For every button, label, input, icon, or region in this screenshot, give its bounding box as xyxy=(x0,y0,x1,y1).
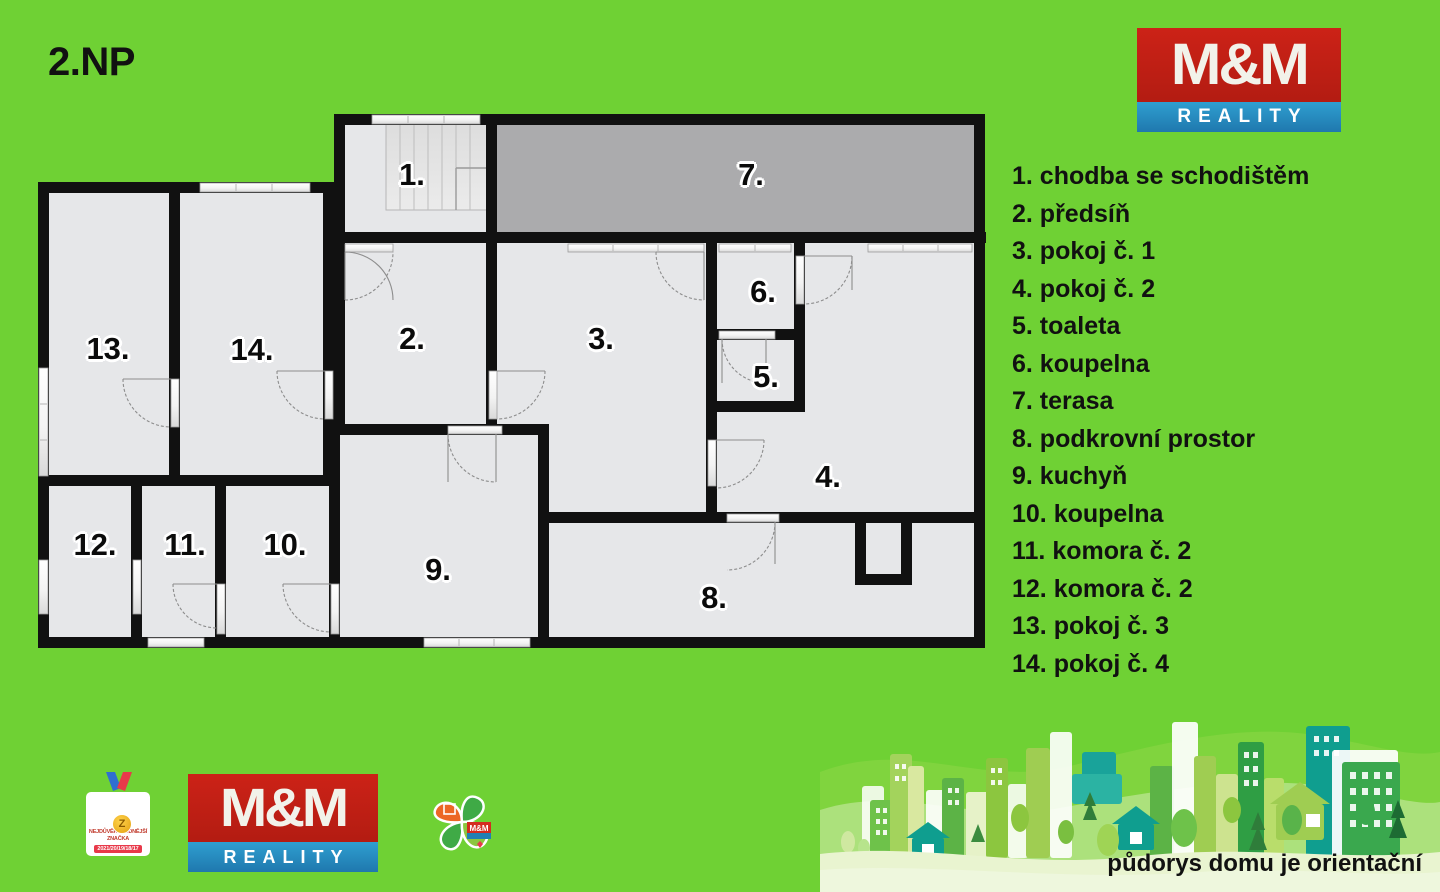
room-area-12 xyxy=(38,486,142,648)
legend-item-2: 2. předsíň xyxy=(1012,196,1432,234)
room-area-3 xyxy=(497,243,717,523)
brand-logo-mm-block: M&M xyxy=(1137,28,1341,102)
room-fills xyxy=(38,114,985,648)
legend-item-1: 1. chodba se schodištěm xyxy=(1012,158,1432,196)
svg-text:M&M: M&M xyxy=(469,824,488,833)
room-9-label: 9. xyxy=(425,552,451,588)
trust-badge-line2: ZNAČKA xyxy=(107,836,129,843)
disclaimer-text: půdorys domu je orientační xyxy=(1107,850,1422,878)
room-5-label: 5. xyxy=(753,359,779,395)
brand-logo-header: M&M REALITY xyxy=(1137,28,1341,136)
room-3-label: 3. xyxy=(588,321,614,357)
room-7-label: 7. xyxy=(738,157,764,193)
legend-item-7: 7. terasa xyxy=(1012,383,1432,421)
room-6-label: 6. xyxy=(750,274,776,310)
legend-item-13: 13. pokoj č. 3 xyxy=(1012,608,1432,646)
legend-item-14: 14. pokoj č. 4 xyxy=(1012,646,1432,684)
brand-logo-footer: M&M REALITY xyxy=(188,774,378,874)
medal-icon: Z xyxy=(112,814,132,834)
room-1-label: 1. xyxy=(399,157,425,193)
legend-item-3: 3. pokoj č. 1 xyxy=(1012,233,1432,271)
room-4-label: 4. xyxy=(815,459,841,495)
legend-item-10: 10. koupelna xyxy=(1012,496,1432,534)
room-13-label: 13. xyxy=(86,331,129,367)
brand-logo-footer-mm-text: M&M xyxy=(220,781,346,835)
legend-item-8: 8. podkrovní prostor xyxy=(1012,421,1432,459)
brand-logo-footer-mm-block: M&M xyxy=(188,774,378,842)
page-title: 2.NP xyxy=(48,40,135,85)
windows xyxy=(39,115,972,647)
door-arcs xyxy=(123,252,852,632)
legend-item-4: 4. pokoj č. 2 xyxy=(1012,271,1432,309)
trust-badge-years: 2021/20/19/18/17 xyxy=(94,845,141,853)
brand-logo-reality-bar: REALITY xyxy=(1137,102,1341,132)
brand-logo-footer-reality-text: REALITY xyxy=(216,847,349,868)
brand-logo-footer-reality-bar: REALITY xyxy=(188,842,378,872)
walls xyxy=(38,114,986,648)
brand-logo-mm-text: M&M xyxy=(1171,36,1307,94)
room-12-label: 12. xyxy=(73,527,116,563)
room-14-label: 14. xyxy=(230,332,273,368)
legend-item-11: 11. komora č. 2 xyxy=(1012,533,1432,571)
legend-item-12: 12. komora č. 2 xyxy=(1012,571,1432,609)
room-11-label: 11. xyxy=(164,527,205,563)
legend-item-9: 9. kuchyň xyxy=(1012,458,1432,496)
room-area-9 xyxy=(340,435,549,648)
trust-badge-card: Z NEJDŮVĚRYHODNĚJŠÍ ZNAČKA 2021/20/19/18… xyxy=(86,792,150,856)
brand-logo-reality-text: REALITY xyxy=(1170,106,1307,128)
room-area-10 xyxy=(226,486,340,648)
trust-award-badge: Z NEJDŮVĚRYHODNĚJŠÍ ZNAČKA 2021/20/19/18… xyxy=(82,772,154,860)
room-8-label: 8. xyxy=(701,580,727,616)
room-10-label: 10. xyxy=(263,527,306,563)
room-2-label: 2. xyxy=(399,321,425,357)
legend-list: 1. chodba se schodištěm2. předsíň3. poko… xyxy=(1012,158,1432,683)
clover-award-badge: M&M xyxy=(420,784,504,860)
legend-item-6: 6. koupelna xyxy=(1012,346,1432,384)
legend-item-5: 5. toaleta xyxy=(1012,308,1432,346)
room-area-11 xyxy=(142,486,226,648)
room-area-8 xyxy=(549,523,985,648)
